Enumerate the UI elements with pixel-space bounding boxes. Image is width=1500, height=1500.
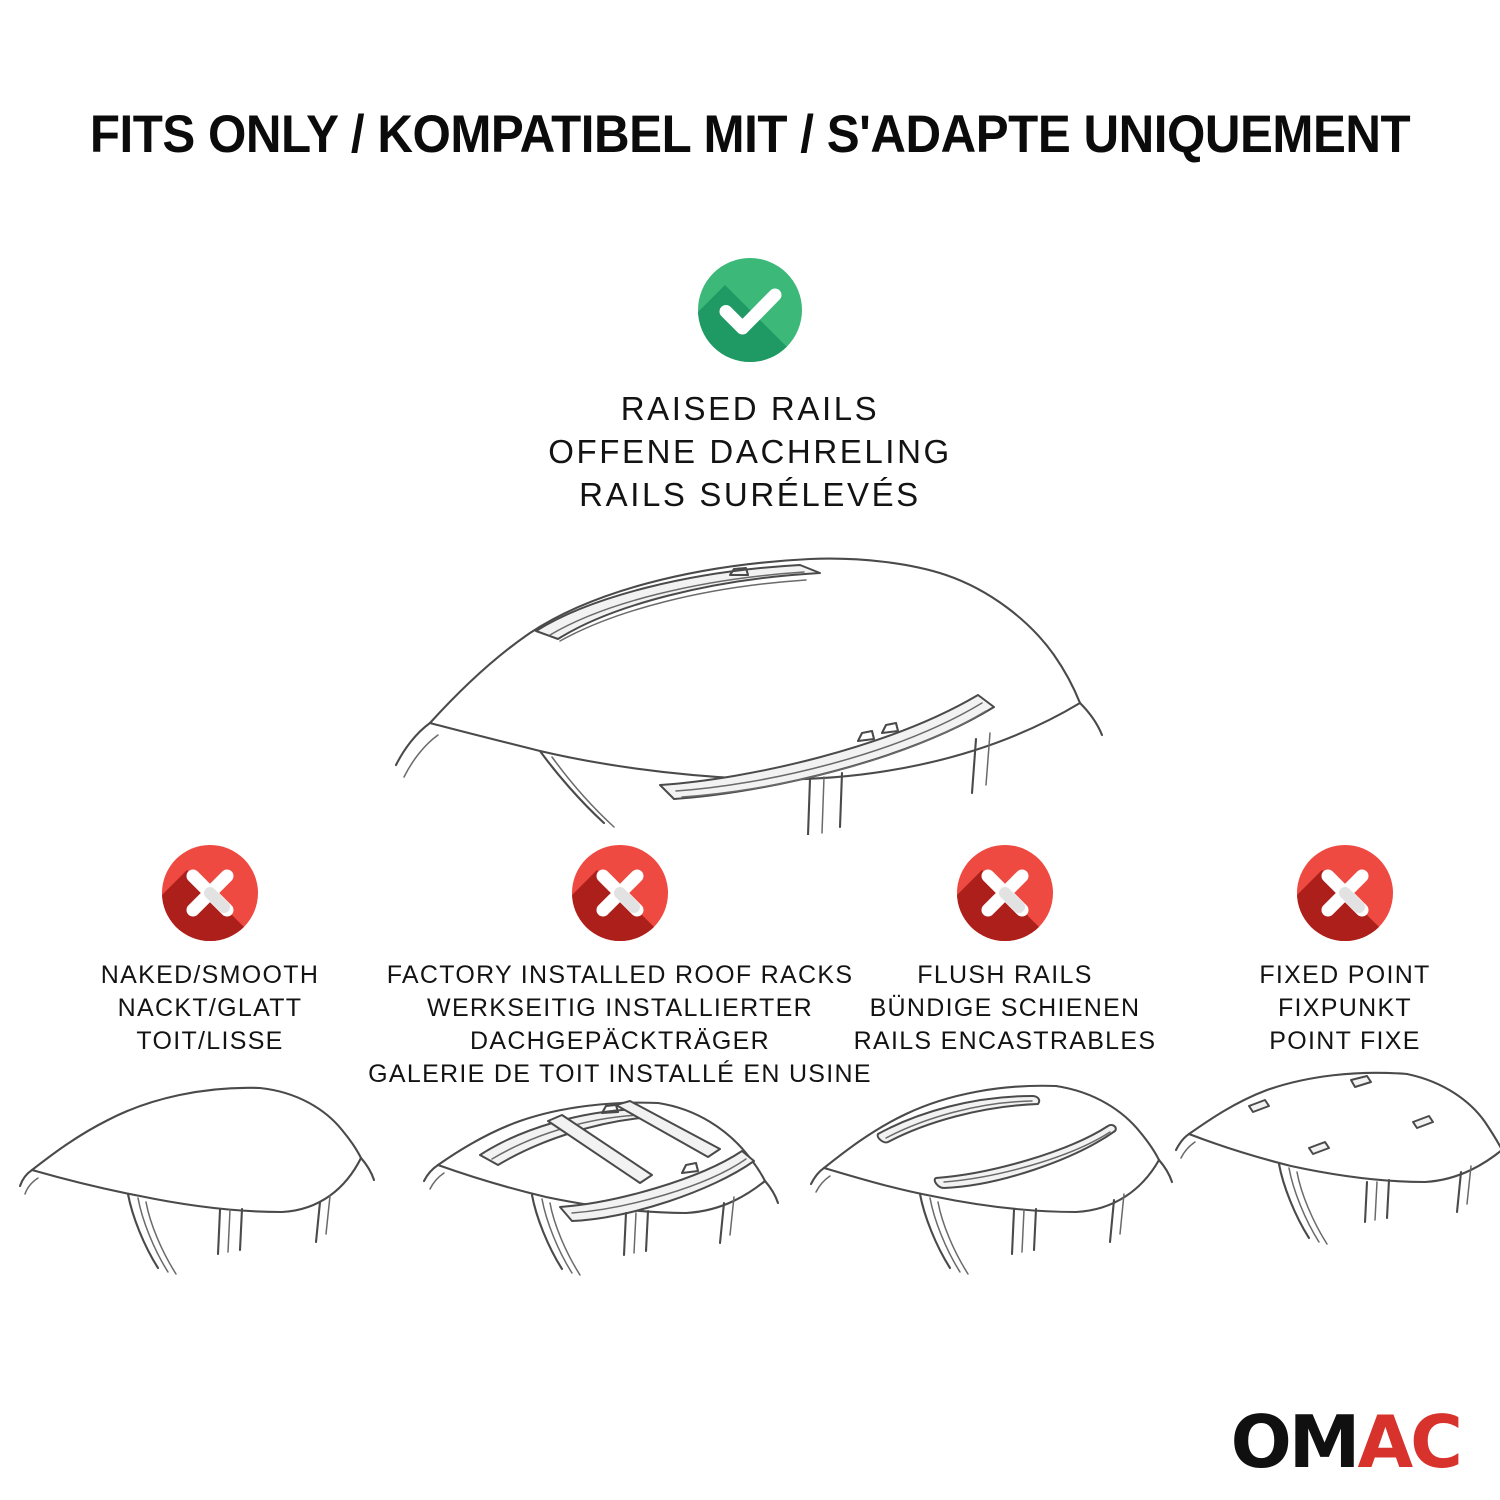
label-en: FLUSH RAILS: [854, 959, 1157, 992]
car-roof-factory-racks-illustration: [420, 1103, 820, 1343]
label-de: NACKT/GLATT: [101, 992, 319, 1025]
omac-logo: OMAC: [1231, 1406, 1460, 1478]
label-fr: RAILS ENCASTRABLES: [854, 1025, 1157, 1058]
logo-text-accent: AC: [1357, 1400, 1460, 1484]
x-circle-icon: [957, 845, 1053, 941]
incompatible-item-fixed-point: FIXED POINT FIXPUNKT POINT FIXE: [1190, 845, 1500, 1310]
label-de: FIXPUNKT: [1259, 992, 1430, 1025]
x-mark-glyph: [162, 845, 258, 941]
label-fr: GALERIE DE TOIT INSTALLÉ EN USINE: [368, 1058, 872, 1091]
label-en: FIXED POINT: [1259, 959, 1430, 992]
incompatible-labels: FIXED POINT FIXPUNKT POINT FIXE: [1259, 959, 1430, 1058]
label-fr: POINT FIXE: [1259, 1025, 1430, 1058]
incompatible-labels: FLUSH RAILS BÜNDIGE SCHIENEN RAILS ENCAS…: [854, 959, 1157, 1058]
incompatible-item-flush-rails: FLUSH RAILS BÜNDIGE SCHIENEN RAILS ENCAS…: [820, 845, 1190, 1310]
car-roof-raised-rails-illustration: [390, 535, 1110, 835]
incompatible-section: NAKED/SMOOTH NACKT/GLATT TOIT/LISSE: [0, 845, 1500, 1343]
incompatible-labels: FACTORY INSTALLED ROOF RACKS WERKSEITIG …: [368, 959, 872, 1091]
incompatible-item-factory-racks: FACTORY INSTALLED ROOF RACKS WERKSEITIG …: [420, 845, 820, 1343]
car-roof-flush-rails-illustration: [810, 1070, 1200, 1310]
label-de-2: DACHGEPÄCKTRÄGER: [368, 1025, 872, 1058]
compatible-label-de: OFFENE DACHRELING: [548, 431, 952, 474]
page-title: FITS ONLY / KOMPATIBEL MIT / S'ADAPTE UN…: [53, 104, 1448, 165]
x-mark-glyph: [957, 845, 1053, 941]
compatible-label-fr: RAILS SURÉLEVÉS: [548, 474, 952, 517]
check-circle-icon: [698, 258, 802, 362]
label-en: FACTORY INSTALLED ROOF RACKS: [368, 959, 872, 992]
x-circle-icon: [1297, 845, 1393, 941]
x-circle-icon: [572, 845, 668, 941]
x-mark-glyph: [572, 845, 668, 941]
x-circle-icon: [162, 845, 258, 941]
incompatible-labels: NAKED/SMOOTH NACKT/GLATT TOIT/LISSE: [101, 959, 319, 1058]
label-de: BÜNDIGE SCHIENEN: [854, 992, 1157, 1025]
compatible-labels: RAISED RAILS OFFENE DACHRELING RAILS SUR…: [548, 388, 952, 517]
compatible-section: RAISED RAILS OFFENE DACHRELING RAILS SUR…: [0, 258, 1500, 835]
x-mark-glyph: [1297, 845, 1393, 941]
car-roof-fixed-point-illustration: [1175, 1070, 1500, 1310]
label-en: NAKED/SMOOTH: [101, 959, 319, 992]
incompatible-item-naked-smooth: NAKED/SMOOTH NACKT/GLATT TOIT/LISSE: [0, 845, 420, 1310]
fitment-infographic: FITS ONLY / KOMPATIBEL MIT / S'ADAPTE UN…: [0, 0, 1500, 1500]
logo-text-dark: OM: [1231, 1400, 1358, 1484]
car-roof-naked-smooth-illustration: [20, 1070, 400, 1310]
label-fr: TOIT/LISSE: [101, 1025, 319, 1058]
check-mark-glyph: [698, 258, 802, 362]
compatible-label-en: RAISED RAILS: [548, 388, 952, 431]
label-de-1: WERKSEITIG INSTALLIERTER: [368, 992, 872, 1025]
